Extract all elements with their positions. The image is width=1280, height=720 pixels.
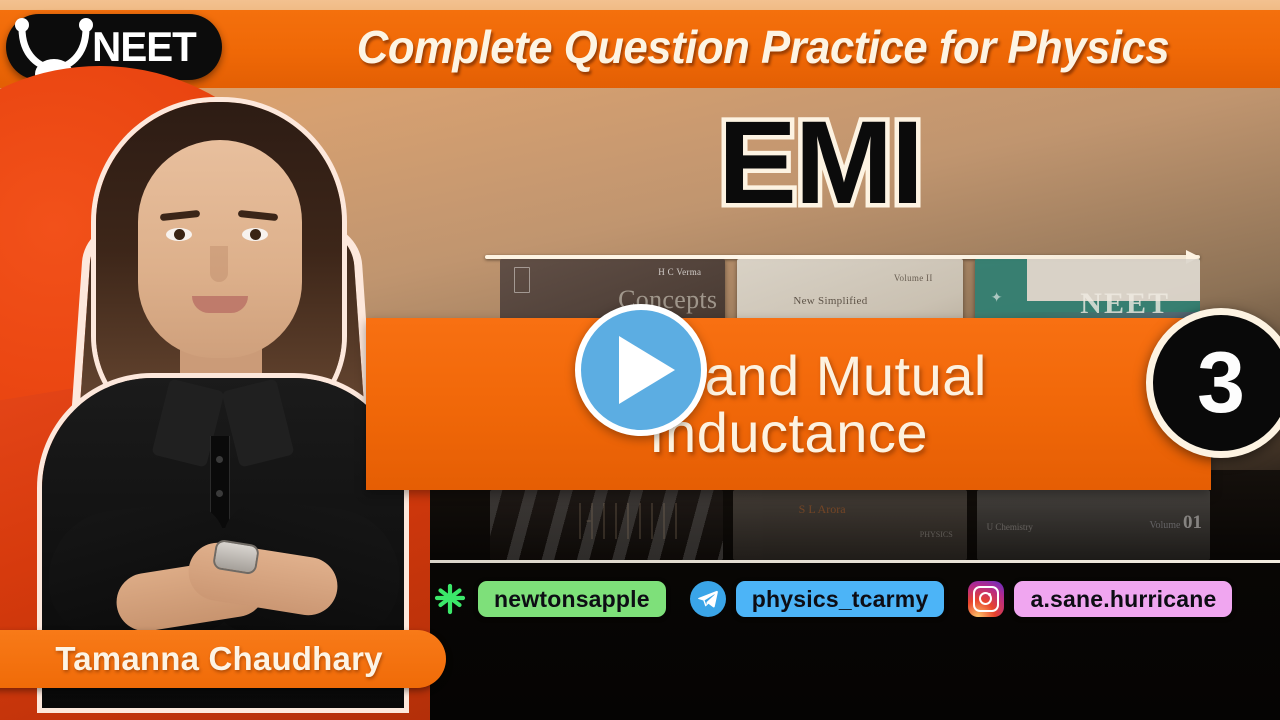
instructor-name: Tamanna Chaudhary [29,640,382,678]
episode-number: 3 [1197,340,1245,426]
book-volume: Volume 01 [1150,512,1202,534]
book-volume: Volume II [894,273,933,283]
social-handle-telegram[interactable]: physics_tcarmy [736,581,945,617]
book-author: S L Arora [799,502,846,517]
play-icon [619,336,675,404]
book-emblem-icon [514,267,530,293]
instructor-photo [20,78,420,690]
telegram-icon [690,581,726,617]
book-subtitle: PHYSICS [920,530,953,539]
unacademy-star-icon [432,581,468,617]
book-cover: U Chemistry Volume 01 [977,490,1210,560]
page-title: Complete Question Practice for Physics [302,12,1224,82]
instructor-name-badge: Tamanna Chaudhary [0,630,446,688]
social-item-instagram[interactable]: a.sane.hurricane [968,581,1232,617]
topic-title: Self and Mutual Inductance [366,322,1211,486]
shelf-divider-line-lower [420,560,1280,563]
instagram-icon [968,581,1004,617]
social-handle-instagram[interactable]: a.sane.hurricane [1014,581,1232,617]
book-volume-number: 01 [1183,512,1202,533]
thumbnail-canvas: H C Verma Concepts Volume II New Simplif… [0,0,1280,720]
social-handles-bar: newtonsapple physics_tcarmy a.sane.hurri… [432,570,1262,628]
neet-brand-label: NEET [92,23,196,71]
subject-code: EMI [690,98,950,228]
waveform-graphic [579,503,677,539]
social-item-telegram[interactable]: physics_tcarmy [690,581,945,617]
social-handle-unacademy[interactable]: newtonsapple [478,581,666,617]
book-author: U Chemistry [987,522,1033,532]
top-accent-strip [0,0,1280,10]
play-button[interactable] [575,304,707,436]
book-cover [490,490,723,560]
book-star-icon: ✦ [989,289,1005,305]
book-cover: S L Arora PHYSICS [733,490,966,560]
book-covers-lower: S L Arora PHYSICS U Chemistry Volume 01 [490,490,1210,560]
book-volume-word: Volume [1150,520,1181,531]
social-item-unacademy[interactable]: newtonsapple [432,581,666,617]
book-title: NEET [1080,287,1170,321]
book-subtitle: New Simplified [793,295,867,307]
book-author: H C Verma [658,267,701,277]
